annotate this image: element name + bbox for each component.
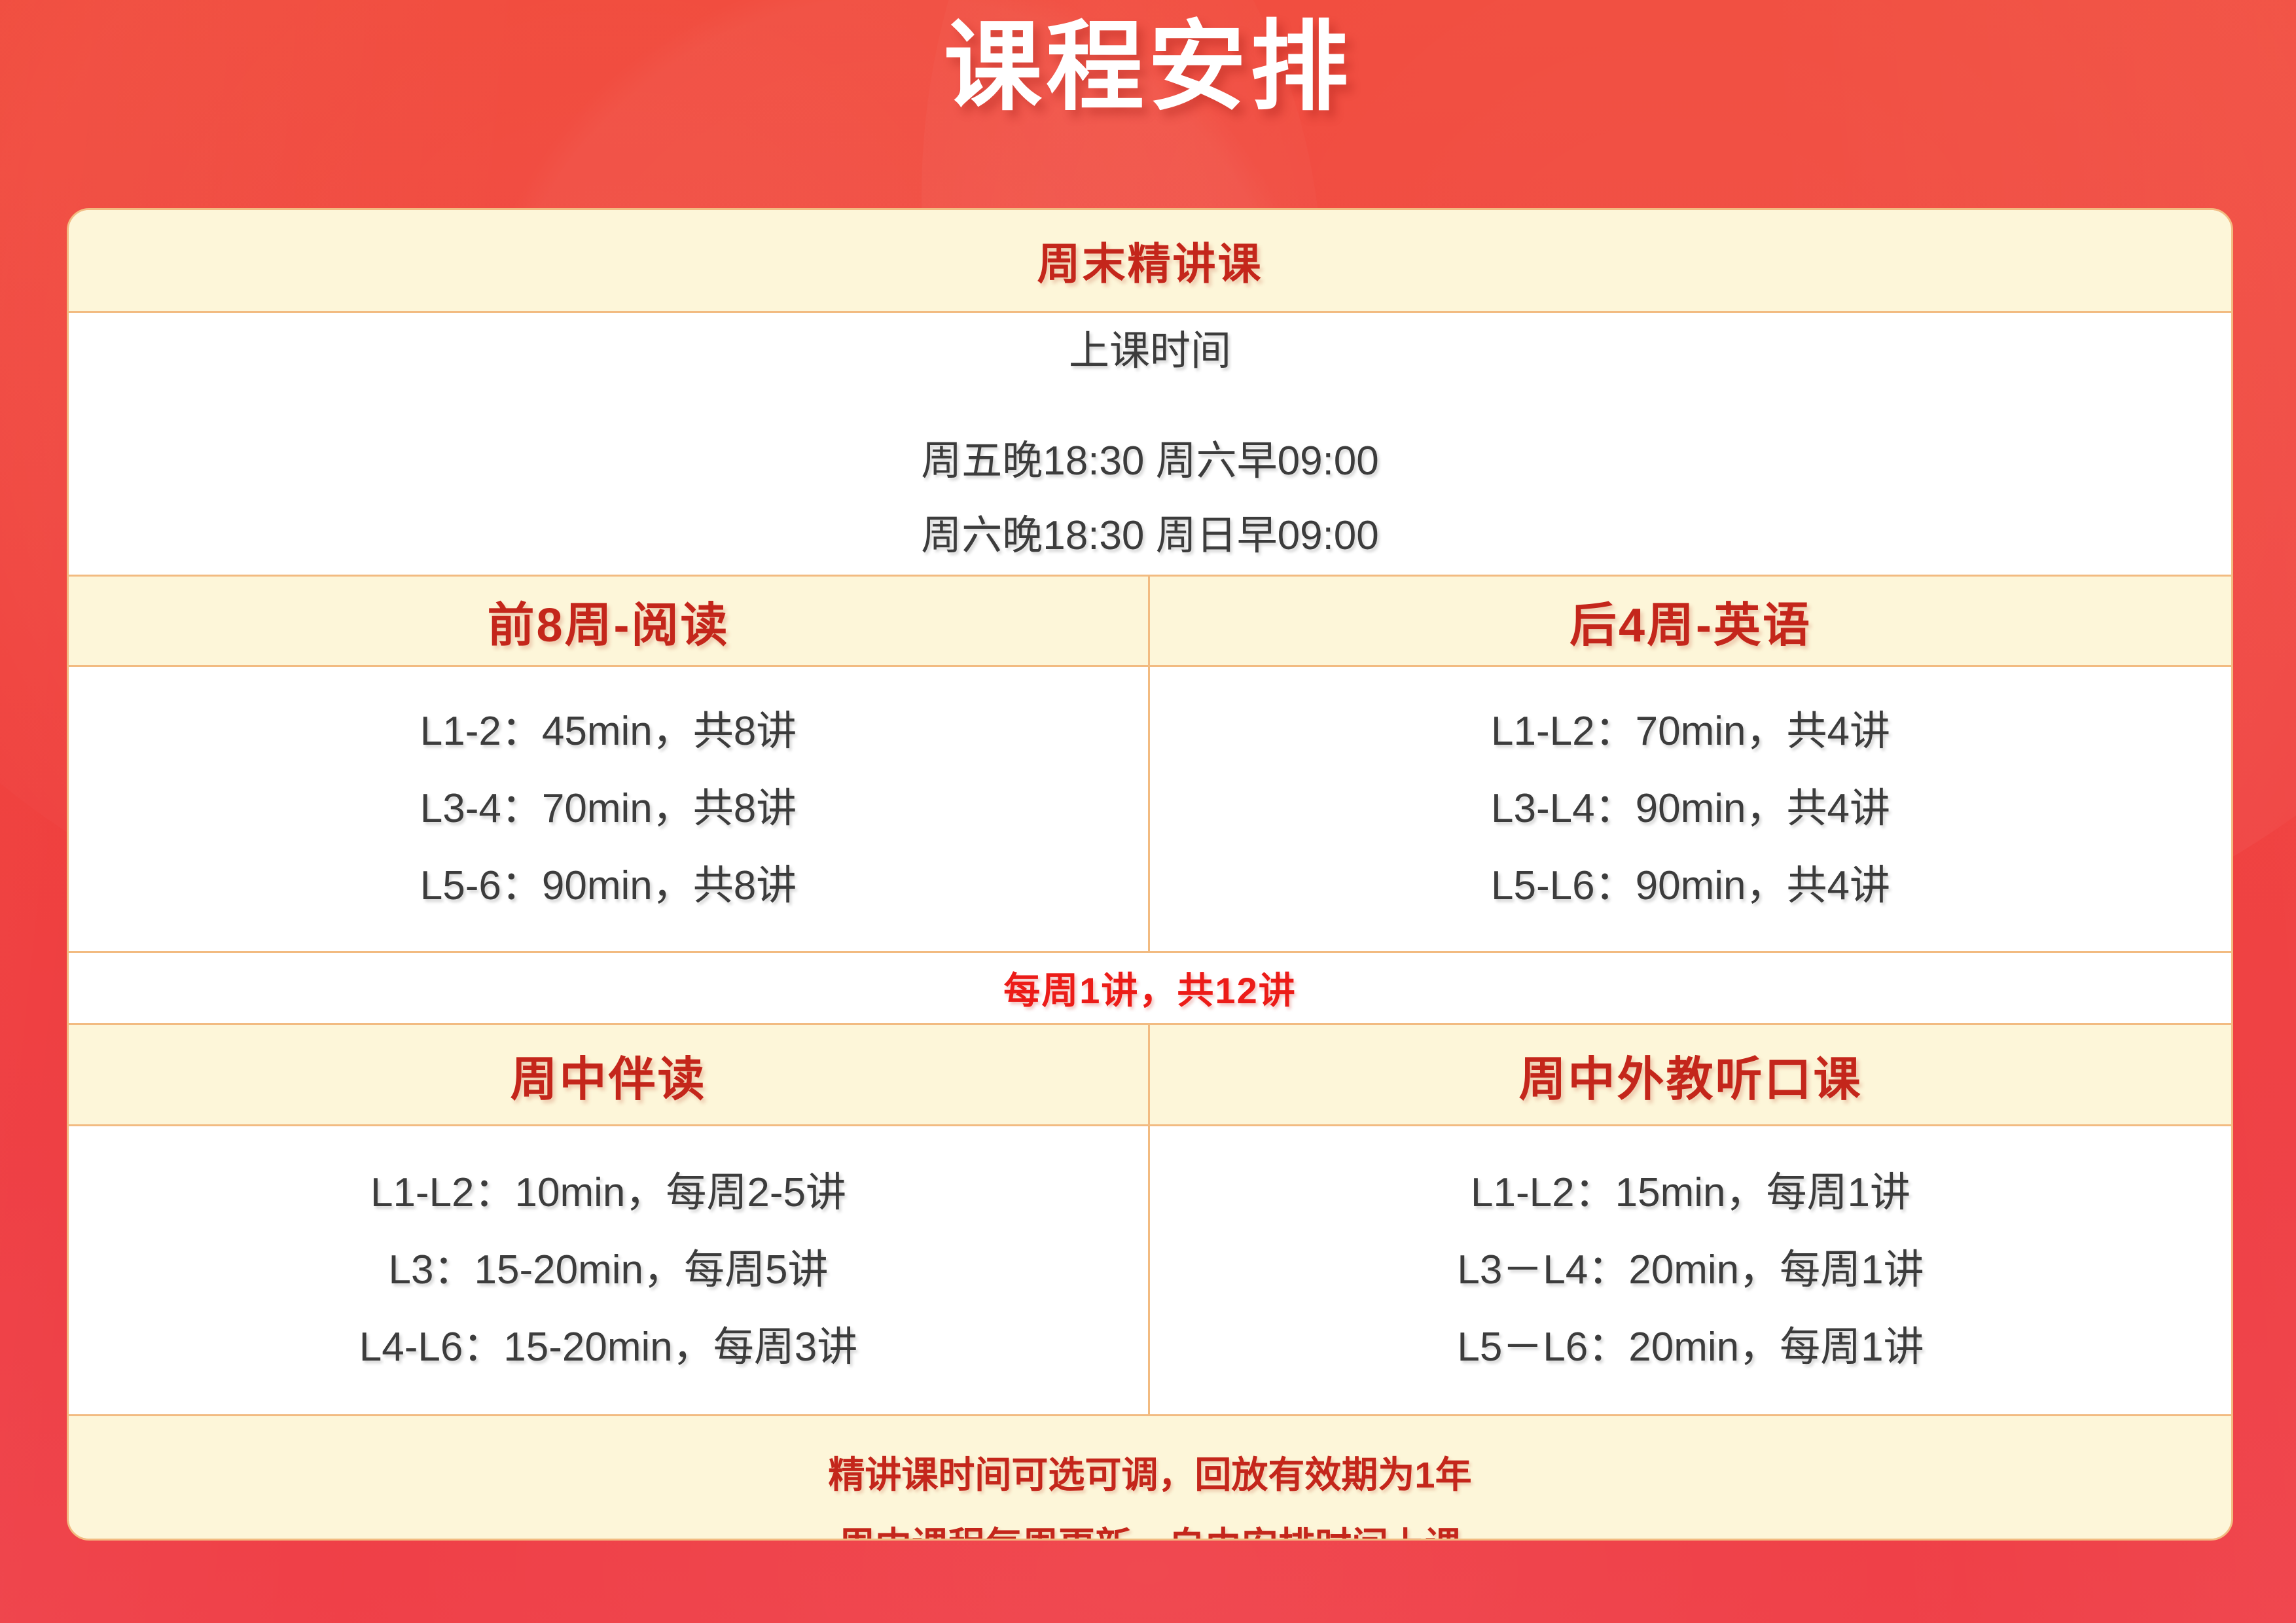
footer-note-line-1: 精讲课时间可选可调，回放有效期为1年 xyxy=(828,1457,1471,1493)
every-week-note-row: 每周1讲，共12讲 xyxy=(69,953,2231,1025)
weekend-detail-right-cell: L1-L2：70min，共4讲 L3-L4：90min，共4讲 L5-L6：90… xyxy=(1150,667,2231,951)
weekday-band-right-text: 周中外教听口课 xyxy=(1518,1041,1862,1109)
weekend-band-right-cell: 后4周-英语 xyxy=(1150,577,2231,665)
weekday-band-left-text: 周中伴读 xyxy=(510,1041,706,1109)
weekday-detail-left-cell: L1-L2：10min，每周2-5讲 L3：15-20min，每周5讲 L4-L… xyxy=(69,1126,1150,1414)
every-week-note-cell: 每周1讲，共12讲 xyxy=(69,953,2231,1023)
class-time-heading: 上课时间 xyxy=(1069,331,1231,372)
weekday-detail-left-line-2: L3：15-20min，每周5讲 xyxy=(389,1250,829,1291)
weekday-detail-left-line-3: L4-L6：15-20min，每周3讲 xyxy=(359,1327,858,1368)
section-title-text: 周末精讲课 xyxy=(1037,229,1263,292)
weekend-band-row: 前8周-阅读 后4周-英语 xyxy=(69,577,2231,667)
weekend-band-right-text: 后4周-英语 xyxy=(1570,586,1812,655)
footer-note-line-2: 周中课程每周更新，自由安排时间上课 xyxy=(838,1527,1462,1541)
weekend-detail-left-cell: L1-2：45min，共8讲 L3-4：70min，共8讲 L5-6：90min… xyxy=(69,667,1150,951)
schedule-card: 周末精讲课 上课时间 周五晚18:30 周六早09:00 周六晚18:30 周日… xyxy=(67,208,2233,1541)
class-time-cell: 上课时间 周五晚18:30 周六早09:00 周六晚18:30 周日早09:00 xyxy=(69,313,2231,575)
section-title-row: 周末精讲课 xyxy=(69,210,2231,313)
weekend-band-left-text: 前8周-阅读 xyxy=(487,586,729,655)
weekday-detail-right-line-2: L3－L4：20min，每周1讲 xyxy=(1457,1250,1924,1291)
weekday-detail-row: L1-L2：10min，每周2-5讲 L3：15-20min，每周5讲 L4-L… xyxy=(69,1126,2231,1416)
weekend-detail-right-line-2: L3-L4：90min，共4讲 xyxy=(1491,789,1890,829)
weekday-band-right-cell: 周中外教听口课 xyxy=(1150,1025,2231,1124)
footer-note-cell: 精讲课时间可选可调，回放有效期为1年 周中课程每周更新，自由安排时间上课 xyxy=(69,1416,2231,1541)
weekend-detail-right-line-1: L1-L2：70min，共4讲 xyxy=(1491,711,1890,752)
weekday-band-left-cell: 周中伴读 xyxy=(69,1025,1150,1124)
section-title-cell: 周末精讲课 xyxy=(69,210,2231,311)
weekday-band-row: 周中伴读 周中外教听口课 xyxy=(69,1025,2231,1126)
weekend-detail-row: L1-2：45min，共8讲 L3-4：70min，共8讲 L5-6：90min… xyxy=(69,667,2231,953)
weekday-detail-left-line-1: L1-L2：10min，每周2-5讲 xyxy=(370,1173,846,1213)
every-week-note-text: 每周1讲，共12讲 xyxy=(1003,961,1296,1014)
weekday-detail-right-line-3: L5－L6：20min，每周1讲 xyxy=(1457,1327,1924,1368)
class-time-line-1: 周五晚18:30 周六早09:00 xyxy=(921,441,1379,482)
weekend-detail-left-line-1: L1-2：45min，共8讲 xyxy=(420,711,797,752)
weekday-detail-right-cell: L1-L2：15min，每周1讲 L3－L4：20min，每周1讲 L5－L6：… xyxy=(1150,1126,2231,1414)
weekday-detail-right-line-1: L1-L2：15min，每周1讲 xyxy=(1471,1173,1910,1213)
class-time-row: 上课时间 周五晚18:30 周六早09:00 周六晚18:30 周日早09:00 xyxy=(69,313,2231,577)
weekend-detail-right-line-3: L5-L6：90min，共4讲 xyxy=(1491,866,1890,906)
weekend-detail-left-line-2: L3-4：70min，共8讲 xyxy=(420,789,797,829)
footer-note-row: 精讲课时间可选可调，回放有效期为1年 周中课程每周更新，自由安排时间上课 xyxy=(69,1416,2231,1541)
class-time-line-2: 周六晚18:30 周日早09:00 xyxy=(921,516,1379,556)
page-title: 课程安排 xyxy=(0,4,2296,130)
weekend-band-left-cell: 前8周-阅读 xyxy=(69,577,1150,665)
weekend-detail-left-line-3: L5-6：90min，共8讲 xyxy=(420,866,797,906)
